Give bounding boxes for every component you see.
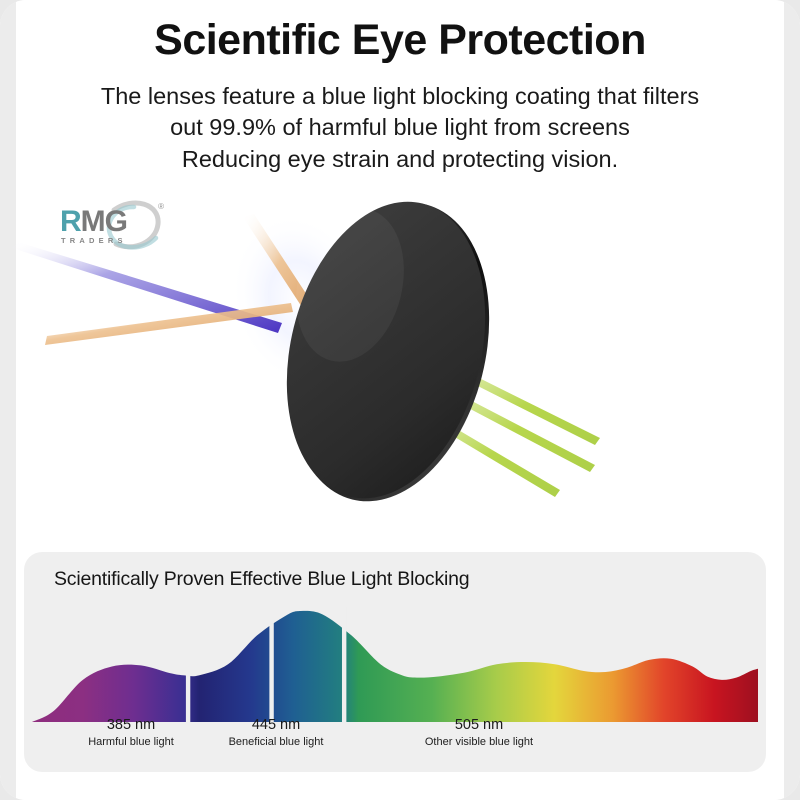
- spectrum-chart: [32, 607, 758, 722]
- spectrum-area-curve: [32, 611, 758, 722]
- band-label-beneficial: 445 nm Beneficial blue light: [186, 717, 366, 750]
- subtitle-line-3: Reducing eye strain and protecting visio…: [0, 144, 800, 175]
- band-tick-445: 445 nm: [186, 717, 366, 734]
- brand-logo: RMG TRADERS ®: [58, 198, 168, 254]
- header: Scientific Eye Protection The lenses fea…: [0, 16, 800, 175]
- band-label-other: 505 nm Other visible blue light: [364, 717, 594, 750]
- band-divider-2: [269, 607, 273, 722]
- band-divider-1: [186, 607, 190, 722]
- subtitle-line-1: The lenses feature a blue light blocking…: [0, 81, 800, 112]
- logo-wordmark: RMG: [60, 207, 127, 237]
- band-divider-3: [342, 607, 346, 722]
- logo-tagline: TRADERS: [61, 236, 127, 245]
- logo-mark-rest: MG: [81, 205, 127, 238]
- subtitle-line-2: out 99.9% of harmful blue light from scr…: [0, 112, 800, 143]
- band-desc-beneficial: Beneficial blue light: [186, 736, 366, 749]
- band-tick-505: 505 nm: [364, 717, 594, 734]
- page-subtitle: The lenses feature a blue light blocking…: [0, 81, 800, 175]
- logo-mark-first: R: [60, 205, 81, 238]
- product-infographic-page: Scientific Eye Protection The lenses fea…: [0, 0, 800, 800]
- spectrum-card: Scientifically Proven Effective Blue Lig…: [24, 552, 766, 772]
- registered-mark-icon: ®: [158, 202, 164, 211]
- page-title: Scientific Eye Protection: [0, 16, 800, 64]
- spectrum-band-labels: 385 nm Harmful blue light 445 nm Benefic…: [24, 717, 766, 767]
- band-desc-other: Other visible blue light: [364, 736, 594, 749]
- spectrum-card-title: Scientifically Proven Effective Blue Lig…: [54, 568, 469, 591]
